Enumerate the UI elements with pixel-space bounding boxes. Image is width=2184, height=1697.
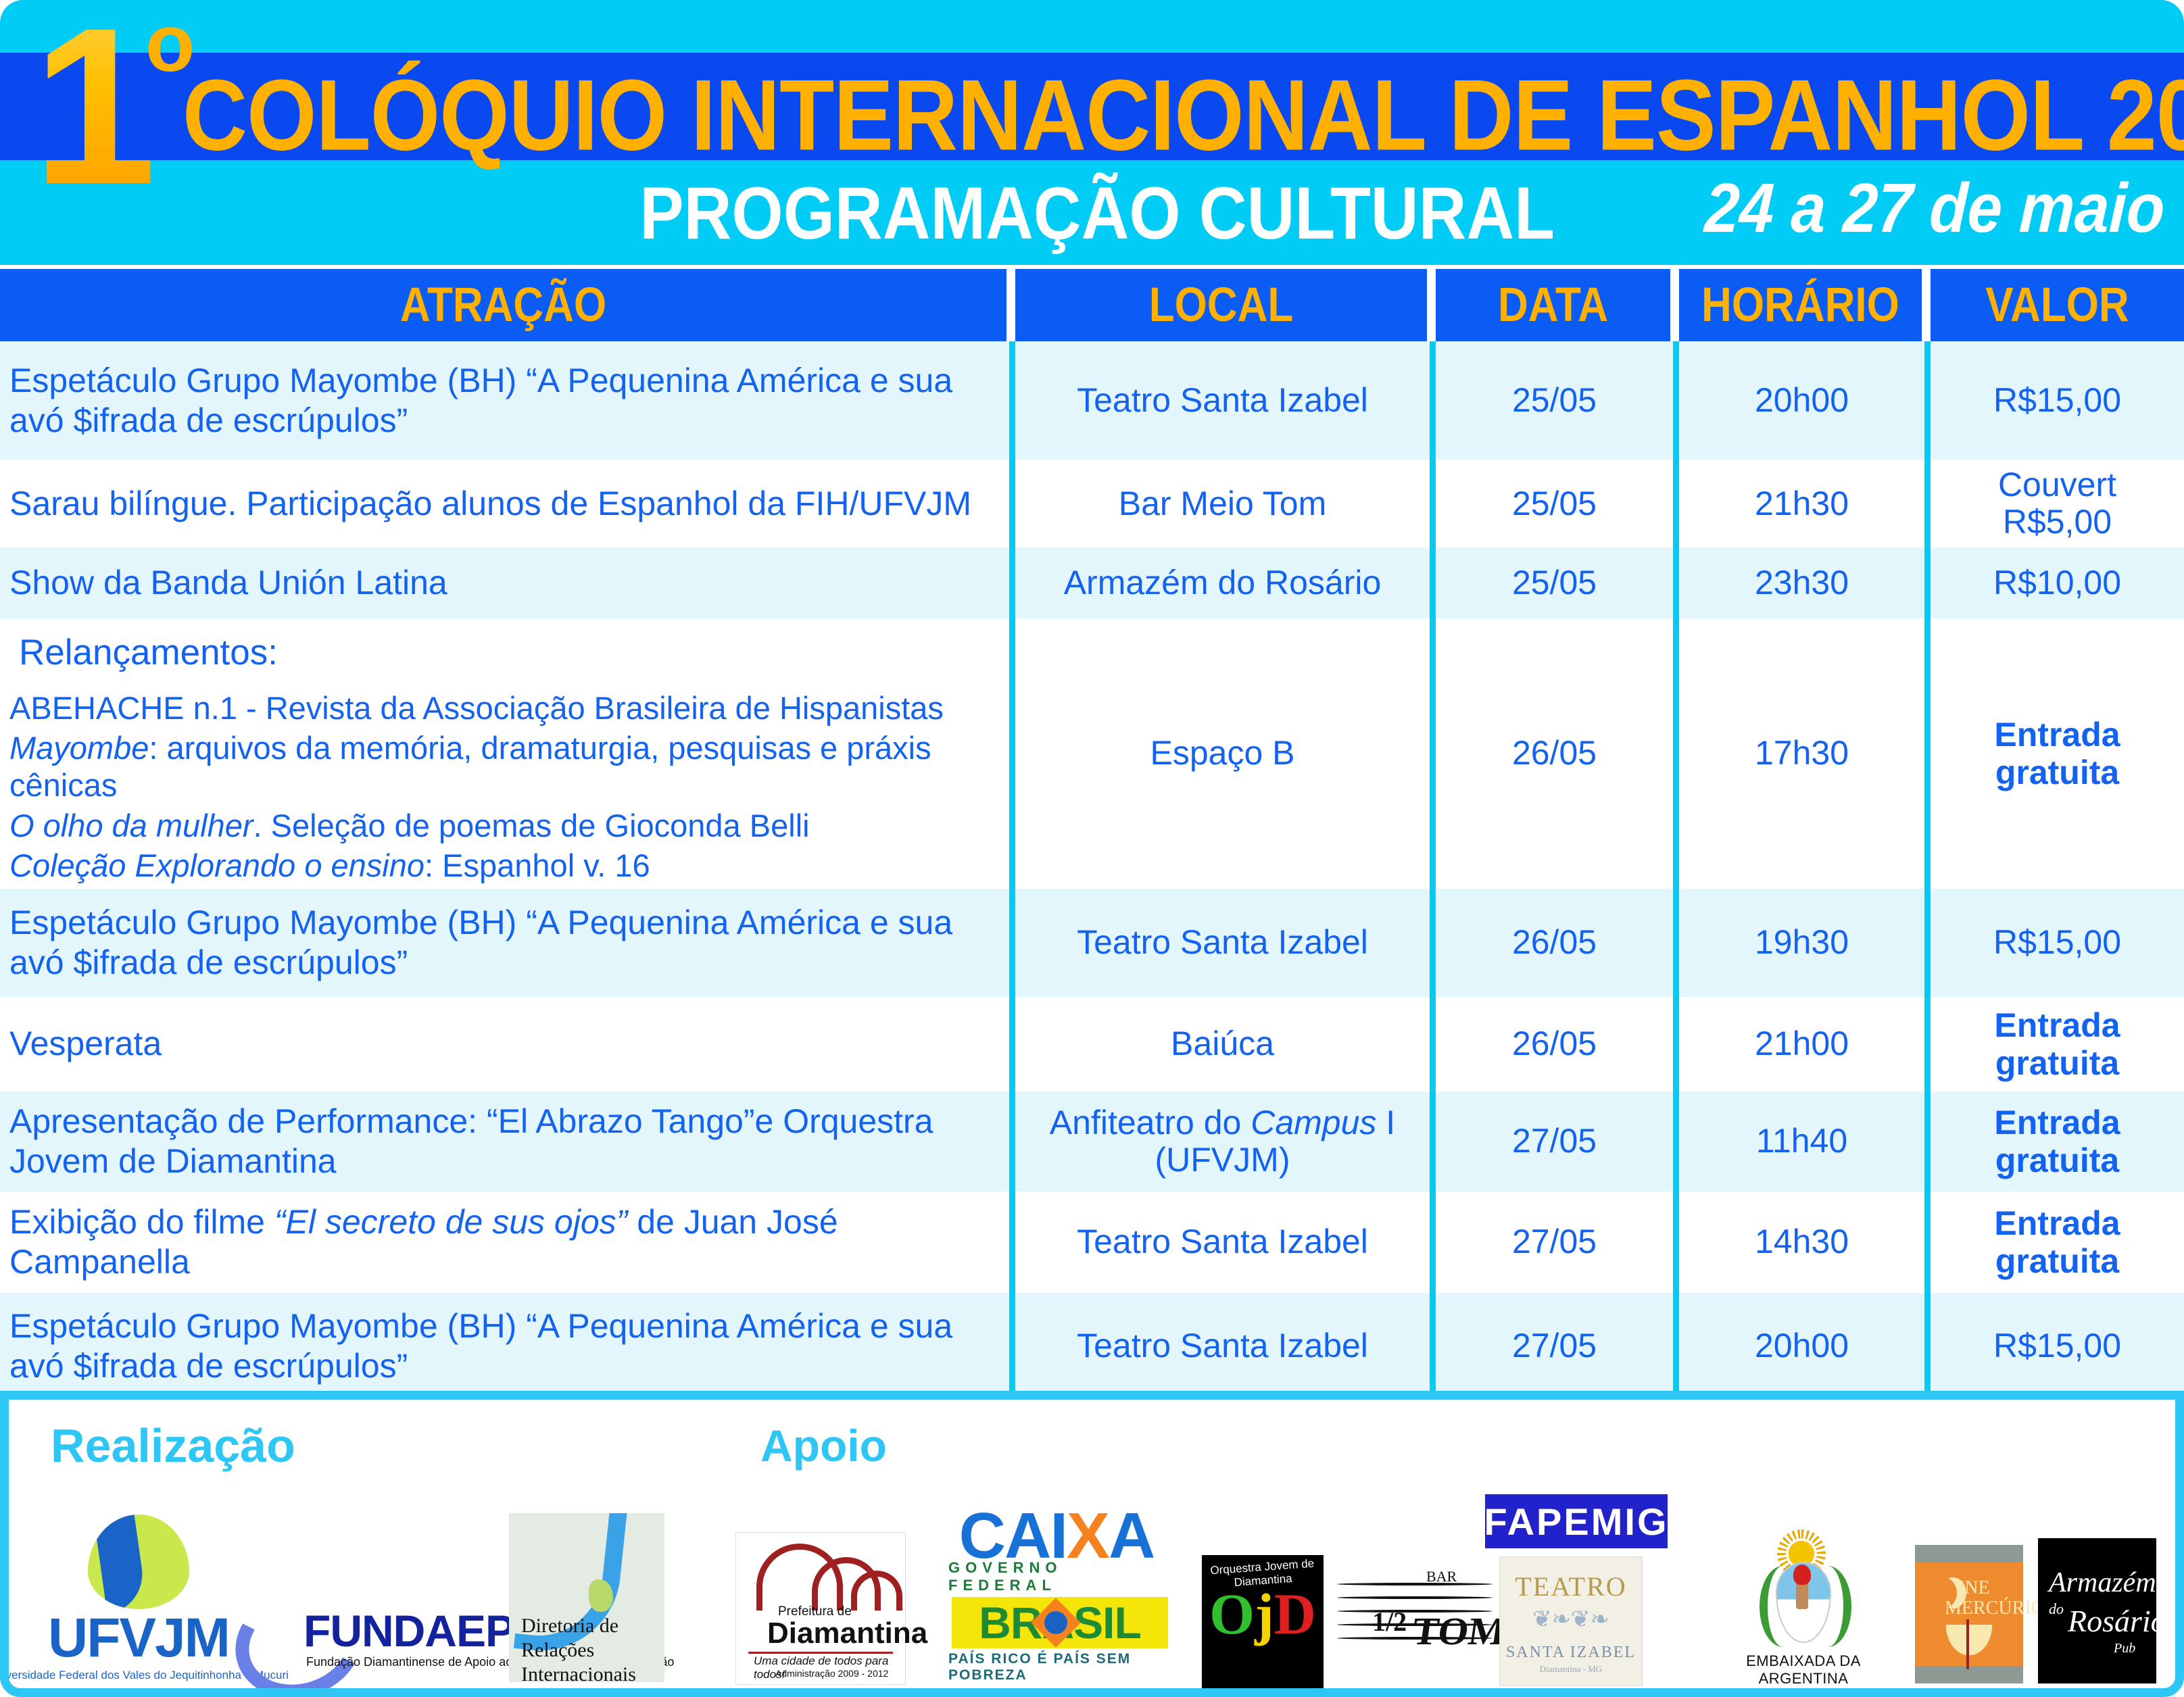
poster-footer: Realização Apoio UFVJM Universidade Fede… (0, 1391, 2184, 1697)
armazem-line-1: Armazém (2049, 1567, 2156, 1599)
table-row: Sarau bilíngue. Participação alunos de E… (0, 460, 2184, 547)
fapemig-logo-text: FAPEMIG (1484, 1500, 1668, 1544)
cell-data: 26/05 (1436, 618, 1679, 889)
fapemig-logo: FAPEMIG (1485, 1494, 1668, 1548)
cell-data: 25/05 (1436, 460, 1679, 547)
dri-line-1: Diretoria de (521, 1615, 618, 1638)
armazem-line-2: Rosário (2068, 1603, 2166, 1639)
cell-horario: 20h00 (1679, 1293, 1931, 1400)
cell-horario: 23h30 (1679, 547, 1931, 618)
cell-valor: Entrada gratuita (1931, 1091, 2184, 1191)
column-header-horario-label: HORÁRIO (1701, 278, 1899, 333)
column-header-valor-label: VALOR (1985, 278, 2129, 333)
brasil-slogan: PAÍS RICO É PAÍS SEM POBREZA (948, 1651, 1171, 1683)
cine-line-1: INE (1958, 1577, 1990, 1599)
program-table: ATRAÇÃO LOCAL DATA HORÁRIO VALOR Espetác… (0, 269, 2184, 1400)
cell-local-italic: Campus (1251, 1104, 1376, 1141)
governo-federal-label: GOVERNO FEDERAL (948, 1559, 1171, 1594)
cine-stem-icon (1966, 1619, 1969, 1669)
prefeitura-diamantina-logo: Prefeitura de Diamantina Uma cidade de t… (735, 1532, 906, 1685)
cine-mercurio-logo: INE MERCÚRIO (1915, 1545, 2023, 1683)
cell-local: Baiúca (1015, 997, 1436, 1091)
cine-top-bar (1915, 1545, 2023, 1563)
ufvjm-logo-text: UFVJM (48, 1610, 229, 1666)
diamantina-city: Diamantina (767, 1617, 927, 1650)
table-header-row: ATRAÇÃO LOCAL DATA HORÁRIO VALOR (0, 269, 2184, 341)
cell-atracao: Vesperata (0, 997, 1015, 1091)
realizacao-label: Realização (51, 1419, 295, 1473)
cell-valor: R$15,00 (1931, 889, 2184, 997)
staff-line (1337, 1596, 1493, 1599)
cell-local: Bar Meio Tom (1015, 460, 1436, 547)
half-note-label: 1/2 (1372, 1606, 1407, 1638)
armazem-do-rosario-logo: Armazém do Rosário Pub (2038, 1538, 2156, 1683)
cell-local: Espaço B (1015, 618, 1436, 889)
table-row: Espetáculo Grupo Mayombe (BH) “A Pequeni… (0, 889, 2184, 997)
relancamentos-line: Mayombe: arquivos da memória, dramaturgi… (9, 729, 1000, 804)
teatro-logo-top: TEATRO (1500, 1571, 1642, 1602)
cell-valor: R$15,00 (1931, 1293, 2184, 1400)
cell-valor: R$10,00 (1931, 547, 2184, 618)
cell-atracao-relancamentos: Relançamentos: ABEHACHE n.1 - Revista da… (0, 618, 1015, 889)
table-row: Show da Banda Unión Latina Armazém do Ro… (0, 547, 2184, 618)
staff-line (1337, 1583, 1493, 1585)
bar-meio-tom-logo: BAR 1/2 TOM (1337, 1565, 1493, 1683)
relancamentos-line-italic: Coleção Explorando o ensino (9, 847, 424, 883)
table-row-relancamentos: Relançamentos: ABEHACHE n.1 - Revista da… (0, 618, 2184, 889)
dri-line-3: Internacionais (521, 1663, 636, 1682)
table-row: Espetáculo Grupo Mayombe (BH) “A Pequeni… (0, 341, 2184, 460)
embaixada-argentina-logo: EMBAIXADA DA ARGENTINA (1726, 1535, 1881, 1683)
cell-horario: 21h30 (1679, 460, 1931, 547)
fundaepe-logo-text: FUNDAEPE (304, 1605, 543, 1656)
governo-federal-logo: GOVERNO FEDERAL BRASIL PAÍS RICO É PAÍS … (948, 1569, 1171, 1683)
cell-local: Anfiteatro do Campus I (UFVJM) (1015, 1091, 1436, 1191)
relancamentos-line-italic: Mayombe (9, 730, 149, 766)
cell-atracao: Show da Banda Unión Latina (0, 547, 1015, 618)
table-row: Apresentação de Performance: “El Abrazo … (0, 1091, 2184, 1191)
world-map-icon: Diretoria de Relações Internacionais (509, 1513, 664, 1682)
cell-data: 26/05 (1436, 889, 1679, 997)
cell-horario: 19h30 (1679, 889, 1931, 997)
cell-horario: 14h30 (1679, 1191, 1931, 1293)
column-header-local-label: LOCAL (1149, 278, 1294, 333)
page-title: COLÓQUIO INTERNACIONAL DE ESPANHOL 2012 (183, 58, 2008, 173)
date-range: 24 a 27 de maio (1703, 169, 2166, 249)
cell-data: 27/05 (1436, 1091, 1679, 1191)
column-header-horario: HORÁRIO (1679, 269, 1931, 341)
diamantina-admin: Administração 2009 - 2012 (775, 1668, 888, 1679)
brasil-band: BRASIL (952, 1597, 1168, 1648)
cell-horario: 21h00 (1679, 997, 1931, 1091)
column-header-valor: VALOR (1931, 269, 2184, 341)
relancamentos-line: Coleção Explorando o ensino: Espanhol v.… (9, 847, 1000, 884)
relancamentos-line: O olho da mulher. Seleção de poemas de G… (9, 807, 1000, 844)
cell-atracao: Espetáculo Grupo Mayombe (BH) “A Pequeni… (0, 341, 1015, 460)
dri-brazil-icon (589, 1579, 613, 1612)
diamantina-arches-icon (750, 1541, 892, 1606)
cell-local: Teatro Santa Izabel (1015, 889, 1436, 997)
cell-local: Teatro Santa Izabel (1015, 1293, 1436, 1400)
cell-atracao: Apresentação de Performance: “El Abrazo … (0, 1091, 1015, 1191)
relancamentos-line: ABEHACHE n.1 - Revista da Associação Bra… (9, 689, 1000, 727)
caixa-logo: CAIXA (945, 1494, 1168, 1569)
tom-label: TOM (1409, 1608, 1509, 1654)
relacoes-internacionais-logo: Diretoria de Relações Internacionais (509, 1513, 664, 1682)
column-header-data: DATA (1436, 269, 1679, 341)
cell-valor: Entrada gratuita (1931, 1191, 2184, 1293)
cell-data: 27/05 (1436, 1293, 1679, 1400)
relancamentos-title: Relançamentos: (19, 632, 1000, 674)
teatro-logo-sub: Diamantina - MG (1500, 1664, 1642, 1675)
ufvjm-logo: UFVJM Universidade Federal dos Vales do … (51, 1486, 226, 1682)
armazem-line-3: Pub (2114, 1641, 2135, 1656)
table-row: Exibição do filme “El secreto de sus ojo… (0, 1191, 2184, 1293)
cell-valor: R$15,00 (1931, 341, 2184, 460)
cell-data: 25/05 (1436, 341, 1679, 460)
teatro-logo-bottom: SANTA IZABEL (1500, 1644, 1642, 1662)
cell-valor: Entrada gratuita (1931, 618, 2184, 889)
teatro-ornament-icon: ❦❧❦❧ (1513, 1606, 1628, 1638)
ufvjm-leaf-icon (88, 1515, 189, 1609)
cell-local: Armazém do Rosário (1015, 547, 1436, 618)
ojd-letter-d: D (1274, 1581, 1316, 1646)
ojd-logo: Orquestra Jovem de Diamantina OjD (1202, 1555, 1324, 1690)
column-header-data-label: DATA (1498, 278, 1608, 333)
fundaepe-logo: FUNDAEPE Fundação Diamantinense de Apoio… (239, 1542, 523, 1677)
ojd-letter-o: O (1209, 1581, 1255, 1646)
armazem-do: do (2049, 1600, 2064, 1618)
cell-valor: Entrada gratuita (1931, 997, 2184, 1091)
apoio-label: Apoio (760, 1420, 887, 1471)
diamantina-divider (748, 1652, 893, 1654)
column-header-atracao-label: ATRAÇÃO (400, 278, 606, 333)
cell-data: 27/05 (1436, 1191, 1679, 1293)
cell-atracao: Sarau bilíngue. Participação alunos de E… (0, 460, 1015, 547)
cell-data: 25/05 (1436, 547, 1679, 618)
cell-horario: 20h00 (1679, 341, 1931, 460)
table-row: Vesperata Baiúca 26/05 21h00 Entrada gra… (0, 997, 2184, 1091)
relancamentos-line-italic: O olho da mulher (9, 808, 253, 843)
page-subtitle: PROGRAMAÇÃO CULTURAL (0, 170, 1555, 256)
cell-local: Teatro Santa Izabel (1015, 341, 1436, 460)
fundaepe-logo-box: FUNDAEPE Fundação Diamantinense de Apoio… (239, 1575, 523, 1677)
teatro-santa-izabel-logo: TEATRO ❦❧❦❧ SANTA IZABEL Diamantina - MG (1499, 1556, 1643, 1686)
bar-label: BAR (1426, 1568, 1457, 1585)
cell-atracao: Exibição do filme “El secreto de sus ojo… (0, 1191, 1015, 1293)
poster-header: 1 o COLÓQUIO INTERNACIONAL DE ESPANHOL 2… (0, 0, 2184, 265)
dri-line-2: Relações (521, 1639, 594, 1662)
cell-atracao: Espetáculo Grupo Mayombe (BH) “A Pequeni… (0, 1293, 1015, 1400)
table-row: Espetáculo Grupo Mayombe (BH) “A Pequeni… (0, 1293, 2184, 1400)
column-header-local: LOCAL (1015, 269, 1436, 341)
ojd-logo-letters: OjD (1202, 1585, 1324, 1643)
cell-horario: 11h40 (1679, 1091, 1931, 1191)
embaixada-argentina-label: EMBAIXADA DA ARGENTINA (1726, 1652, 1881, 1688)
phrygian-cap-icon (1793, 1565, 1811, 1585)
cell-atracao-italic: “El secreto de sus ojos” (274, 1203, 627, 1241)
program-table-wrap: ATRAÇÃO LOCAL DATA HORÁRIO VALOR Espetác… (0, 269, 2184, 1400)
cine-line-2: MERCÚRIO (1945, 1598, 2045, 1619)
cell-horario: 17h30 (1679, 618, 1931, 889)
column-header-atracao: ATRAÇÃO (0, 269, 1015, 341)
flame-icon (1935, 1625, 2003, 1669)
cell-local: Teatro Santa Izabel (1015, 1191, 1436, 1293)
poster-root: 1 o COLÓQUIO INTERNACIONAL DE ESPANHOL 2… (0, 0, 2184, 1697)
ojd-letter-j: j (1255, 1581, 1274, 1646)
cell-atracao: Espetáculo Grupo Mayombe (BH) “A Pequeni… (0, 889, 1015, 997)
cell-data: 26/05 (1436, 997, 1679, 1091)
cell-valor: Couvert R$5,00 (1931, 460, 2184, 547)
